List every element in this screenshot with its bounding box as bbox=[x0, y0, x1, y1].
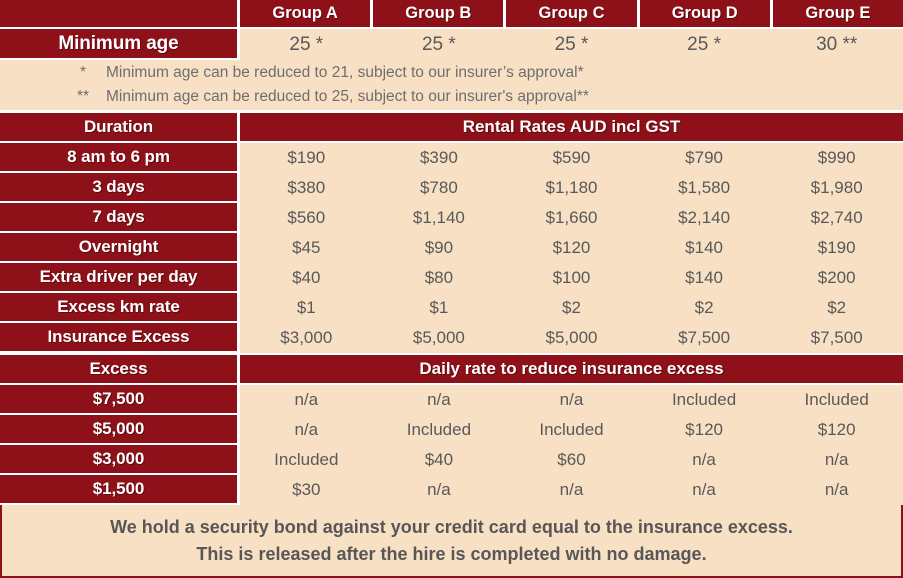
data-cell: $390 bbox=[373, 143, 506, 173]
row-label: Excess km rate bbox=[0, 293, 240, 323]
data-cell: $2 bbox=[505, 293, 638, 323]
footnote-text: Minimum age can be reduced to 21, subjec… bbox=[106, 61, 584, 85]
data-cell: $40 bbox=[373, 445, 506, 475]
table-row: $3,000 Included $40 $60 n/a n/a bbox=[0, 445, 903, 475]
data-cell: $140 bbox=[638, 233, 771, 263]
minimum-age-cell: 25 * bbox=[505, 29, 638, 60]
data-cell: n/a bbox=[638, 475, 771, 505]
data-cell: Included bbox=[373, 415, 506, 445]
data-cell: $380 bbox=[240, 173, 373, 203]
data-cell: $30 bbox=[240, 475, 373, 505]
group-header-cell: Group C bbox=[506, 0, 639, 29]
data-cell: $5,000 bbox=[373, 323, 506, 353]
data-cell: $1,180 bbox=[505, 173, 638, 203]
group-header-row: Group A Group B Group C Group D Group E bbox=[0, 0, 903, 29]
minimum-age-cell: 25 * bbox=[373, 29, 506, 60]
table-row: $1,500 $30 n/a n/a n/a n/a bbox=[0, 475, 903, 505]
row-cells: $30 n/a n/a n/a n/a bbox=[240, 475, 903, 505]
data-cell: $1,580 bbox=[638, 173, 771, 203]
row-label: 3 days bbox=[0, 173, 240, 203]
footnote-marker: * bbox=[60, 61, 106, 85]
row-cells: n/a Included Included $120 $120 bbox=[240, 415, 903, 445]
data-cell: n/a bbox=[505, 385, 638, 415]
data-cell: n/a bbox=[505, 475, 638, 505]
data-cell: $5,000 bbox=[505, 323, 638, 353]
data-cell: $1,980 bbox=[770, 173, 903, 203]
data-cell: $1 bbox=[240, 293, 373, 323]
row-label: 7 days bbox=[0, 203, 240, 233]
footnote-marker: ** bbox=[60, 85, 106, 109]
footnote-text: Minimum age can be reduced to 25, subjec… bbox=[106, 85, 589, 109]
table-row: Overnight $45 $90 $120 $140 $190 bbox=[0, 233, 903, 263]
group-header-cell: Group A bbox=[240, 0, 373, 29]
data-cell: $140 bbox=[638, 263, 771, 293]
data-cell: n/a bbox=[373, 475, 506, 505]
row-label: 8 am to 6 pm bbox=[0, 143, 240, 173]
table-row: $5,000 n/a Included Included $120 $120 bbox=[0, 415, 903, 445]
row-label: $5,000 bbox=[0, 415, 240, 445]
footer-line: This is released after the hire is compl… bbox=[196, 541, 706, 568]
row-cells: $1 $1 $2 $2 $2 bbox=[240, 293, 903, 323]
data-cell: $190 bbox=[770, 233, 903, 263]
duration-header-label: Duration bbox=[0, 113, 240, 143]
data-cell: $1,140 bbox=[373, 203, 506, 233]
footnote-line: * Minimum age can be reduced to 21, subj… bbox=[60, 61, 903, 85]
row-cells: $40 $80 $100 $140 $200 bbox=[240, 263, 903, 293]
data-cell: n/a bbox=[240, 385, 373, 415]
data-cell: $40 bbox=[240, 263, 373, 293]
row-cells: Included $40 $60 n/a n/a bbox=[240, 445, 903, 475]
table-row: $7,500 n/a n/a n/a Included Included bbox=[0, 385, 903, 415]
data-cell: $80 bbox=[373, 263, 506, 293]
data-cell: $3,000 bbox=[240, 323, 373, 353]
minimum-age-cell: 30 ** bbox=[770, 29, 903, 60]
row-label: $1,500 bbox=[0, 475, 240, 505]
rental-rates-banner-row: Duration Rental Rates AUD incl GST bbox=[0, 113, 903, 143]
data-cell: Included bbox=[505, 415, 638, 445]
minimum-age-cell: 25 * bbox=[240, 29, 373, 60]
data-cell: $200 bbox=[770, 263, 903, 293]
data-cell: $7,500 bbox=[770, 323, 903, 353]
data-cell: Included bbox=[770, 385, 903, 415]
row-label: Insurance Excess bbox=[0, 323, 240, 353]
data-cell: Included bbox=[638, 385, 771, 415]
data-cell: $100 bbox=[505, 263, 638, 293]
data-cell: $120 bbox=[505, 233, 638, 263]
footer-line: We hold a security bond against your cre… bbox=[110, 514, 793, 541]
excess-banner-row: Excess Daily rate to reduce insurance ex… bbox=[0, 355, 903, 385]
data-cell: $60 bbox=[505, 445, 638, 475]
group-header-cell: Group B bbox=[373, 0, 506, 29]
data-cell: $790 bbox=[638, 143, 771, 173]
data-cell: $120 bbox=[770, 415, 903, 445]
data-cell: $2,140 bbox=[638, 203, 771, 233]
data-cell: $7,500 bbox=[638, 323, 771, 353]
data-cell: $2 bbox=[770, 293, 903, 323]
data-cell: $590 bbox=[505, 143, 638, 173]
minimum-age-row: Minimum age 25 * 25 * 25 * 25 * 30 ** bbox=[0, 29, 903, 60]
corner-cell bbox=[0, 0, 240, 29]
data-cell: $45 bbox=[240, 233, 373, 263]
table-row: Extra driver per day $40 $80 $100 $140 $… bbox=[0, 263, 903, 293]
data-cell: $990 bbox=[770, 143, 903, 173]
footnote-line: ** Minimum age can be reduced to 25, sub… bbox=[60, 85, 903, 109]
data-cell: $780 bbox=[373, 173, 506, 203]
data-cell: $120 bbox=[638, 415, 771, 445]
row-cells: $560 $1,140 $1,660 $2,140 $2,740 bbox=[240, 203, 903, 233]
row-cells: $190 $390 $590 $790 $990 bbox=[240, 143, 903, 173]
row-label: Overnight bbox=[0, 233, 240, 263]
row-label: $7,500 bbox=[0, 385, 240, 415]
minimum-age-cells: 25 * 25 * 25 * 25 * 30 ** bbox=[240, 29, 903, 60]
row-cells: $380 $780 $1,180 $1,580 $1,980 bbox=[240, 173, 903, 203]
table-row: 3 days $380 $780 $1,180 $1,580 $1,980 bbox=[0, 173, 903, 203]
data-cell: $1 bbox=[373, 293, 506, 323]
data-cell: n/a bbox=[638, 445, 771, 475]
data-cell: $2 bbox=[638, 293, 771, 323]
data-cell: $560 bbox=[240, 203, 373, 233]
rental-rates-banner: Rental Rates AUD incl GST bbox=[240, 113, 903, 143]
data-cell: n/a bbox=[770, 445, 903, 475]
row-label: Extra driver per day bbox=[0, 263, 240, 293]
rental-rate-card: Group A Group B Group C Group D Group E … bbox=[0, 0, 903, 578]
data-cell: Included bbox=[240, 445, 373, 475]
data-cell: $2,740 bbox=[770, 203, 903, 233]
footnote-block: * Minimum age can be reduced to 21, subj… bbox=[0, 60, 903, 113]
row-cells: $45 $90 $120 $140 $190 bbox=[240, 233, 903, 263]
table-row: Insurance Excess $3,000 $5,000 $5,000 $7… bbox=[0, 323, 903, 353]
group-header-cell: Group E bbox=[773, 0, 903, 29]
security-bond-footer: We hold a security bond against your cre… bbox=[0, 505, 903, 578]
excess-banner: Daily rate to reduce insurance excess bbox=[240, 355, 903, 385]
row-cells: $3,000 $5,000 $5,000 $7,500 $7,500 bbox=[240, 323, 903, 353]
table-row: 7 days $560 $1,140 $1,660 $2,140 $2,740 bbox=[0, 203, 903, 233]
table-row: 8 am to 6 pm $190 $390 $590 $790 $990 bbox=[0, 143, 903, 173]
excess-header-label: Excess bbox=[0, 355, 240, 385]
table-row: Excess km rate $1 $1 $2 $2 $2 bbox=[0, 293, 903, 323]
data-cell: $1,660 bbox=[505, 203, 638, 233]
row-label: $3,000 bbox=[0, 445, 240, 475]
data-cell: n/a bbox=[240, 415, 373, 445]
data-cell: $90 bbox=[373, 233, 506, 263]
minimum-age-label: Minimum age bbox=[0, 29, 240, 60]
data-cell: $190 bbox=[240, 143, 373, 173]
group-header-cell: Group D bbox=[640, 0, 773, 29]
group-header-cells: Group A Group B Group C Group D Group E bbox=[240, 0, 903, 29]
data-cell: n/a bbox=[770, 475, 903, 505]
row-cells: n/a n/a n/a Included Included bbox=[240, 385, 903, 415]
data-cell: n/a bbox=[373, 385, 506, 415]
minimum-age-cell: 25 * bbox=[638, 29, 771, 60]
